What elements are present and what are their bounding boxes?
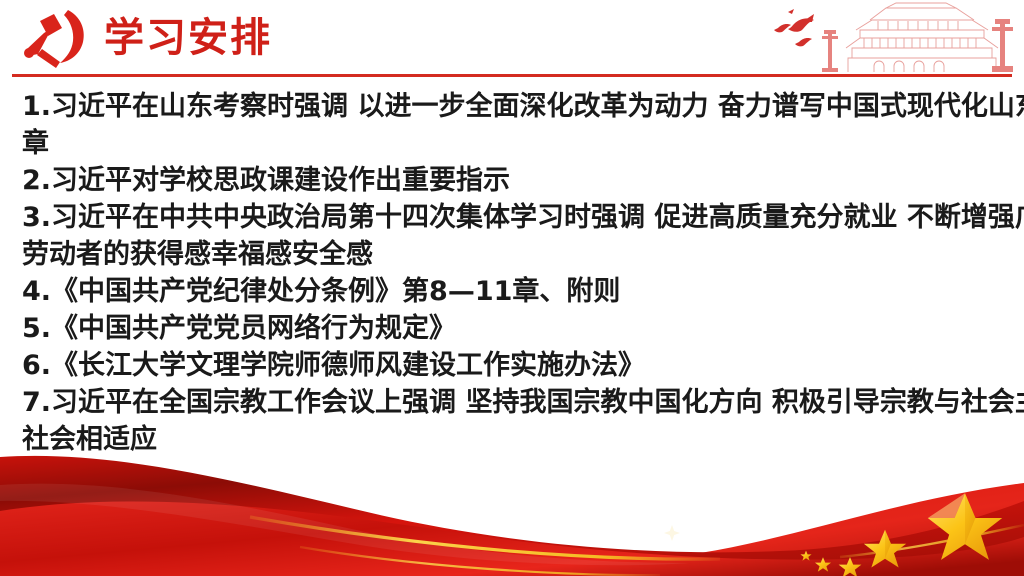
slide-header: 学习安排 — [0, 0, 1024, 80]
list-item: 3.习近平在中共中央政治局第十四次集体学习时强调 促进高质量充分就业 不断增强广… — [22, 199, 1012, 236]
list-item: 劳动者的获得感幸福感安全感 — [22, 236, 1012, 273]
dove-icons — [774, 9, 814, 46]
list-item: 5.《中国共产党党员网络行为规定》 — [22, 310, 1012, 347]
list-item: 7.习近平在全国宗教工作会议上强调 坚持我国宗教中国化方向 积极引导宗教与社会主… — [22, 384, 1012, 421]
red-ribbon-wave-with-gold-streak — [0, 441, 1024, 576]
list-item: 4.《中国共产党纪律处分条例》第8—11章、附则 — [22, 273, 1012, 310]
page-title: 学习安排 — [104, 14, 272, 62]
header-divider — [12, 74, 1012, 77]
study-schedule-list: 1.习近平在山东考察时强调 以进一步全面深化改革为动力 奋力谱写中国式现代化山东… — [22, 88, 1012, 458]
list-item: 2.习近平对学校思政课建设作出重要指示 — [22, 162, 1012, 199]
list-item: 6.《长江大学文理学院师德师风建设工作实施办法》 — [22, 347, 1012, 384]
sparkle-icon — [664, 525, 680, 541]
slide-canvas: 学习安排 — [0, 0, 1024, 576]
list-item: 1.习近平在山东考察时强调 以进一步全面深化改革为动力 奋力谱写中国式现代化山东… — [22, 88, 1012, 125]
list-item: 章 — [22, 125, 1012, 162]
cpc-hammer-sickle-emblem — [14, 6, 98, 70]
tiananmen-gate-with-doves-illustration — [756, 0, 1024, 78]
